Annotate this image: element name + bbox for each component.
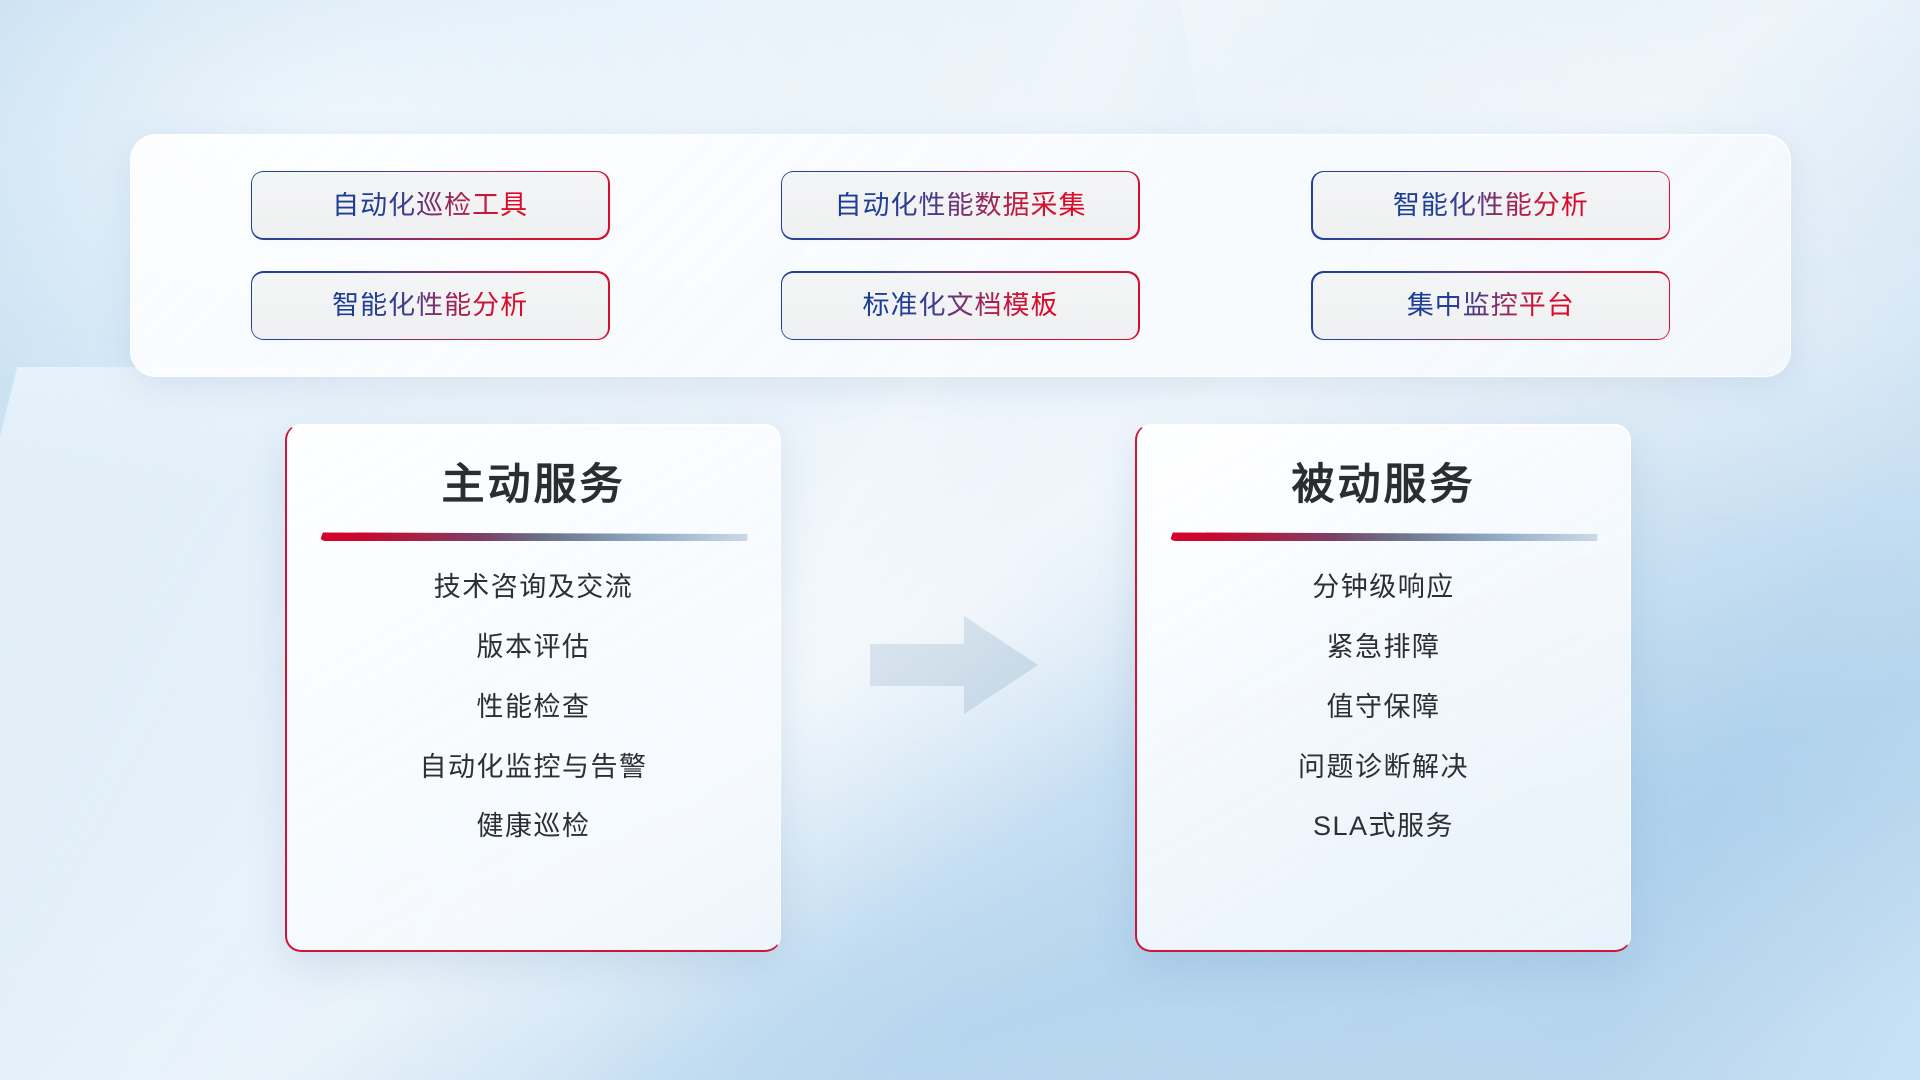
list-item: 版本评估 — [477, 631, 591, 665]
list-item: 健康巡检 — [477, 810, 591, 844]
chip-standardized-document-template[interactable]: 标准化文档模板 — [782, 273, 1138, 339]
chip-automated-performance-data-collection[interactable]: 自动化性能数据采集 — [782, 172, 1138, 238]
chip-label: 自动化性能数据采集 — [834, 192, 1086, 219]
passive-service-list: 分钟级响应 紧急排障 值守保障 问题诊断解决 SLA式服务 — [1137, 571, 1630, 844]
passive-service-title: 被动服务 — [1137, 461, 1630, 510]
passive-service-card[interactable]: 被动服务 分钟级响应 紧急排障 值守保障 问题诊断解决 SLA式服务 — [1135, 424, 1631, 952]
chip-intelligent-performance-analysis-bottom[interactable]: 智能化性能分析 — [252, 273, 608, 339]
capability-chip-grid: 自动化巡检工具 自动化性能数据采集 智能化性能分析 智能化性能分析 标准化文档模… — [131, 135, 1790, 376]
active-service-list: 技术咨询及交流 版本评估 性能检查 自动化监控与告警 健康巡检 — [287, 571, 780, 844]
list-item: 紧急排障 — [1327, 631, 1441, 665]
chip-intelligent-performance-analysis-top[interactable]: 智能化性能分析 — [1313, 172, 1669, 238]
chip-label: 集中监控平台 — [1407, 292, 1575, 319]
chip-automated-inspection-tool[interactable]: 自动化巡检工具 — [252, 172, 608, 238]
list-item: 问题诊断解决 — [1298, 751, 1469, 785]
list-item: 自动化监控与告警 — [420, 751, 648, 785]
chip-centralized-monitoring-platform[interactable]: 集中监控平台 — [1313, 273, 1669, 339]
right-arrow-icon — [866, 610, 1042, 720]
capability-panel: 自动化巡检工具 自动化性能数据采集 智能化性能分析 智能化性能分析 标准化文档模… — [130, 134, 1791, 377]
list-item: 技术咨询及交流 — [434, 571, 634, 605]
active-service-divider — [320, 532, 748, 541]
list-item: SLA式服务 — [1313, 810, 1454, 844]
chip-label: 自动化巡检工具 — [332, 192, 528, 219]
active-service-title: 主动服务 — [287, 461, 780, 510]
chip-label: 智能化性能分析 — [332, 292, 528, 319]
chip-label: 标准化文档模板 — [862, 292, 1058, 319]
list-item: 值守保障 — [1327, 691, 1441, 725]
passive-service-divider — [1170, 532, 1598, 541]
chip-label: 智能化性能分析 — [1393, 192, 1589, 219]
active-service-card[interactable]: 主动服务 技术咨询及交流 版本评估 性能检查 自动化监控与告警 健康巡检 — [285, 424, 781, 952]
list-item: 分钟级响应 — [1312, 571, 1455, 605]
list-item: 性能检查 — [477, 691, 591, 725]
